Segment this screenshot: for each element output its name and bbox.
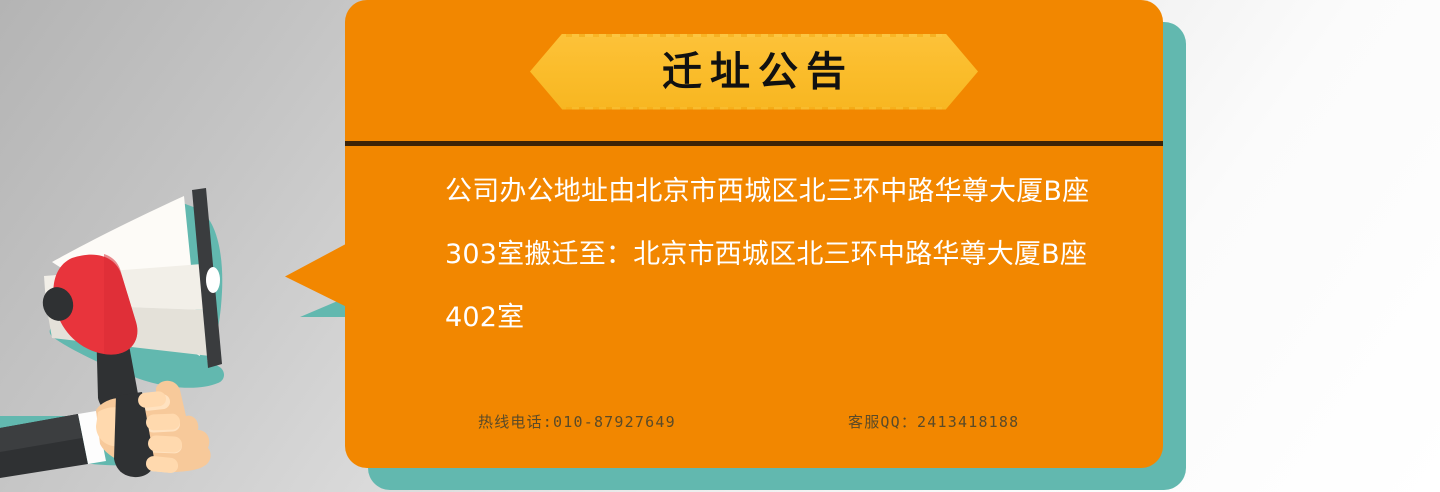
megaphone-icon (0, 180, 300, 492)
contact-row: 热线电话:010-87927649 客服QQ：2413418188 (345, 404, 1163, 438)
title-banner-area: 迁址公告 (345, 0, 1163, 143)
header-divider (345, 141, 1163, 146)
banner-texture-top (566, 34, 942, 37)
announcement-body: 公司办公地址由北京市西城区北三环中路华尊大厦B座303室搬迁至：北京市西城区北三… (345, 160, 1163, 349)
banner-texture-bottom (566, 107, 942, 110)
announcement-banner-stage: 迁址公告 公司办公地址由北京市西城区北三环中路华尊大厦B座303室搬迁至：北京市… (0, 0, 1440, 492)
page-title: 迁址公告 (654, 52, 854, 92)
hotline-phone: 热线电话:010-87927649 (478, 411, 848, 432)
customer-service-qq: 客服QQ：2413418188 (848, 411, 1019, 432)
title-banner: 迁址公告 (530, 34, 978, 110)
